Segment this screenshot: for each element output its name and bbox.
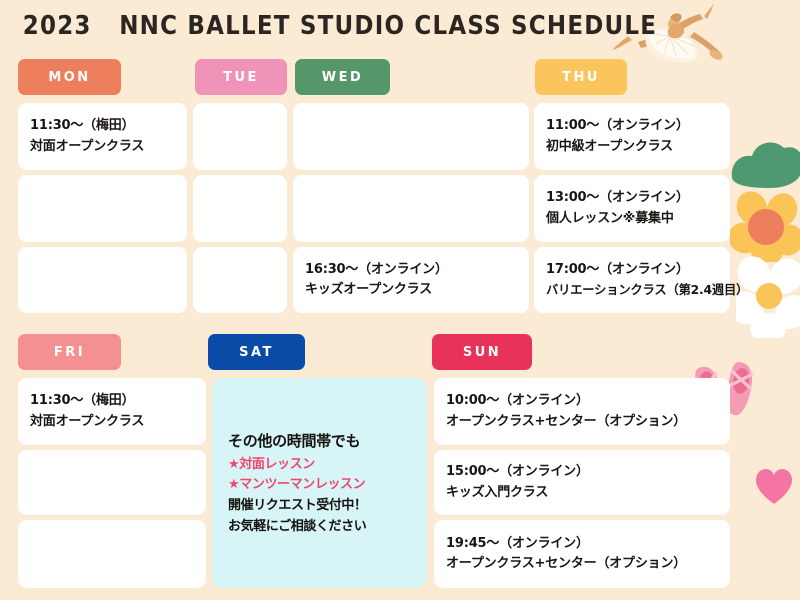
class-cell-sun-2[interactable]: 15:00〜（オンライン） キッズ入門クラス [434,450,730,515]
page-title-text: 2023 NNC BALLET STUDIO CLASS SCHEDULE [23,11,657,40]
day-header-sun-label: SUN [463,345,501,360]
class-cell-tue-3[interactable] [193,247,287,313]
day-header-fri: FRI [18,334,121,370]
class-cell-fri-1[interactable]: 11:30〜（梅田） 対面オープンクラス [18,378,206,445]
day-header-sat-label: SAT [239,345,274,360]
sat-note-star-line-1: ★対面レッスン [228,455,411,476]
pink-heart-icon [754,468,794,506]
class-time: 10:00〜（オンライン） [446,391,718,411]
day-header-sat: SAT [208,334,305,370]
day-header-mon-label: MON [48,70,90,85]
class-cell-tue-1[interactable] [193,103,287,170]
sat-note-line-2: お気軽にご相談ください [228,517,411,538]
class-name: バリエーションクラス（第2.4週目） [546,281,718,300]
day-header-wed: WED [295,59,390,95]
day-header-thu-label: THU [562,70,600,85]
day-header-wed-label: WED [322,70,364,85]
white-daisy-icon [736,256,800,338]
class-cell-mon-1[interactable]: 11:30〜（梅田） 対面オープンクラス [18,103,187,170]
class-cell-sun-1[interactable]: 10:00〜（オンライン） オープンクラス+センター（オプション） [434,378,730,445]
class-cell-fri-2[interactable] [18,450,206,515]
class-time: 19:45〜（オンライン） [446,534,718,554]
class-name: 個人レッスン※募集中 [546,209,718,229]
class-time: 11:30〜（梅田） [30,116,175,136]
class-time: 13:00〜（オンライン） [546,188,718,208]
class-cell-thu-3[interactable]: 17:00〜（オンライン） バリエーションクラス（第2.4週目） [534,247,730,313]
class-cell-wed-3[interactable]: 16:30〜（オンライン） キッズオープンクラス [293,247,529,313]
sat-note-line-1: 開催リクエスト受付中！ [228,496,411,517]
class-cell-sun-3[interactable]: 19:45〜（オンライン） オープンクラス+センター（オプション） [434,520,730,588]
class-cell-thu-2[interactable]: 13:00〜（オンライン） 個人レッスン※募集中 [534,175,730,242]
class-cell-fri-3[interactable] [18,520,206,588]
class-time: 11:00〜（オンライン） [546,116,718,136]
day-header-mon: MON [18,59,121,95]
class-name: オープンクラス+センター（オプション） [446,554,718,574]
schedule-poster: 2023 NNC BALLET STUDIO CLASS SCHEDULE MO… [0,0,800,600]
day-header-fri-label: FRI [54,345,85,360]
orange-flower-icon [730,188,800,262]
sat-note-star-line-2: ★マンツーマンレッスン [228,475,411,496]
class-name: 対面オープンクラス [30,412,194,432]
class-name: 対面オープンクラス [30,137,175,157]
class-cell-mon-2[interactable] [18,175,187,242]
class-cell-wed-2[interactable] [293,175,529,242]
page-title: 2023 NNC BALLET STUDIO CLASS SCHEDULE [0,13,800,39]
class-time: 17:00〜（オンライン） [546,260,718,280]
green-leaf-icon [726,130,800,192]
sat-note-box[interactable]: その他の時間帯でも ★対面レッスン ★マンツーマンレッスン 開催リクエスト受付中… [212,378,427,588]
class-name: オープンクラス+センター（オプション） [446,412,718,432]
sat-note-heading: その他の時間帯でも [228,429,411,453]
class-cell-mon-3[interactable] [18,247,187,313]
class-time: 15:00〜（オンライン） [446,462,718,482]
class-name: キッズオープンクラス [305,280,517,300]
day-header-tue-label: TUE [223,70,259,85]
class-cell-wed-1[interactable] [293,103,529,170]
day-header-sun: SUN [432,334,532,370]
class-time: 11:30〜（梅田） [30,391,194,411]
class-cell-tue-2[interactable] [193,175,287,242]
day-header-thu: THU [535,59,627,95]
class-time: 16:30〜（オンライン） [305,260,517,280]
class-cell-thu-1[interactable]: 11:00〜（オンライン） 初中級オープンクラス [534,103,730,170]
day-header-tue: TUE [195,59,287,95]
class-name: キッズ入門クラス [446,483,718,503]
class-name: 初中級オープンクラス [546,137,718,157]
